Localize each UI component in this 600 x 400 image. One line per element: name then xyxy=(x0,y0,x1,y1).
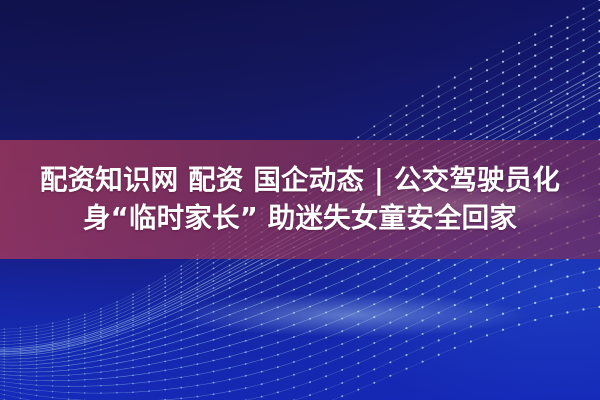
page-title: 配资知识网 配资 国企动态 | 公交驾驶员化身“临时家长” 助迷失女童安全回家 xyxy=(14,162,586,238)
title-container: 配资知识网 配资 国企动态 | 公交驾驶员化身“临时家长” 助迷失女童安全回家 xyxy=(0,162,600,238)
title-overlay-band: 配资知识网 配资 国企动态 | 公交驾驶员化身“临时家长” 助迷失女童安全回家 xyxy=(0,140,600,259)
article-banner: 配资知识网 配资 国企动态 | 公交驾驶员化身“临时家长” 助迷失女童安全回家 xyxy=(0,0,600,400)
